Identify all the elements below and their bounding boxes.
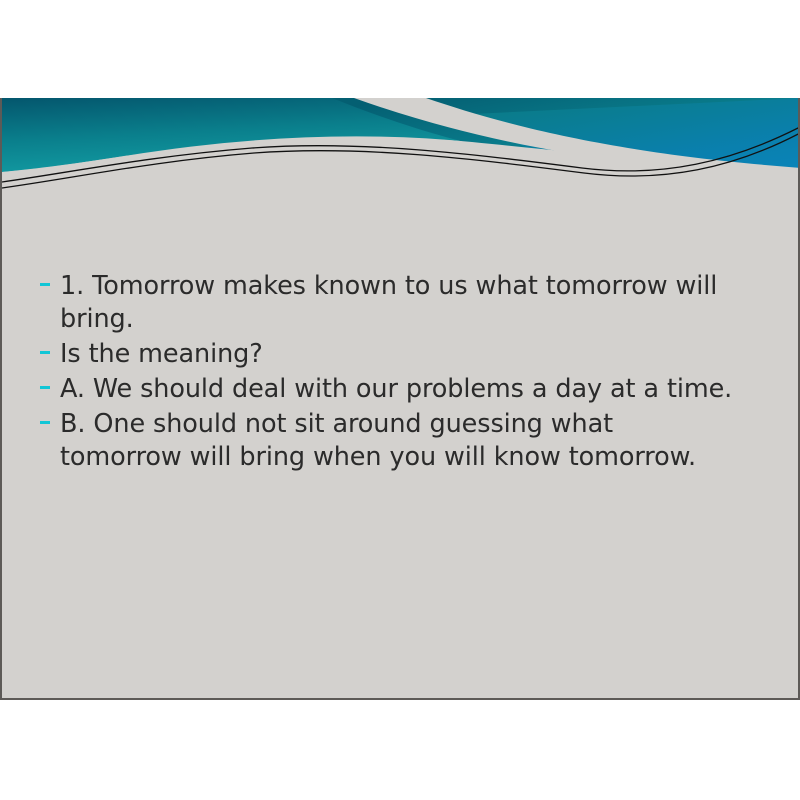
header-wave-decoration	[2, 98, 800, 218]
list-item: A. We should deal with our problems a da…	[40, 373, 770, 406]
dash-bullet-icon	[40, 338, 60, 354]
bullet-text: Is the meaning?	[60, 338, 770, 371]
presentation-slide: 1. Tomorrow makes known to us what tomor…	[0, 98, 800, 700]
wave-graphic	[2, 98, 800, 218]
list-item: B. One should not sit around guessing wh…	[40, 408, 770, 474]
slide-body-content: 1. Tomorrow makes known to us what tomor…	[40, 270, 770, 476]
dash-bullet-icon	[40, 270, 60, 286]
list-item: Is the meaning?	[40, 338, 770, 371]
bullet-text: A. We should deal with our problems a da…	[60, 373, 770, 406]
bullet-text: 1. Tomorrow makes known to us what tomor…	[60, 270, 760, 336]
bullet-text: B. One should not sit around guessing wh…	[60, 408, 740, 474]
list-item: 1. Tomorrow makes known to us what tomor…	[40, 270, 770, 336]
dash-bullet-icon	[40, 373, 60, 389]
dash-bullet-icon	[40, 408, 60, 424]
slide-root: 1. Tomorrow makes known to us what tomor…	[0, 0, 800, 800]
